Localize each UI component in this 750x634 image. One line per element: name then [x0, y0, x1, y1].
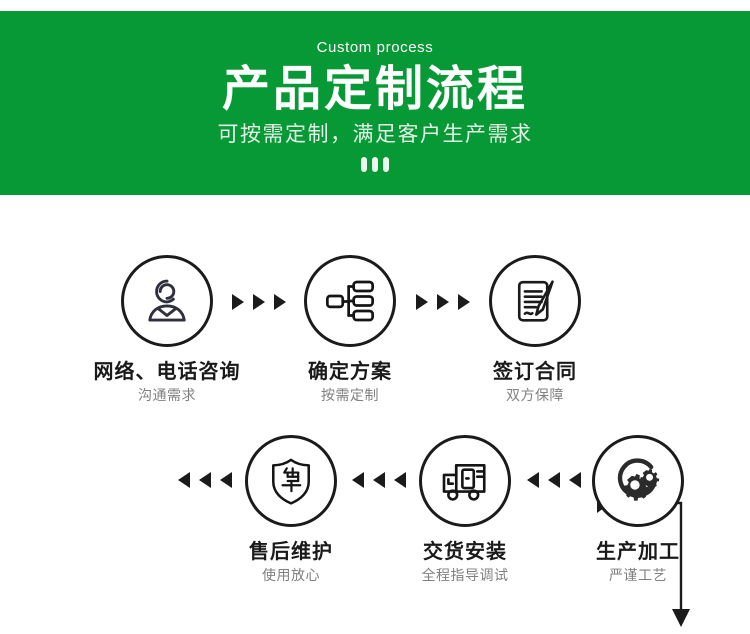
step-subtitle: 双方保障: [450, 389, 620, 404]
step-title: 网络、电话咨询: [82, 360, 252, 382]
step-subtitle: 严谨工艺: [553, 569, 723, 584]
process-flow-diagram: 网络、电话咨询 沟通需求: [0, 195, 750, 634]
step-title: 生产加工: [553, 540, 723, 562]
process-step-consultation[interactable]: 网络、电话咨询 沟通需求: [82, 255, 252, 404]
process-step-after-sales[interactable]: 售后维护 使用放心: [206, 435, 376, 584]
product-customization-process-page: Custom process 产品定制流程 可按需定制，满足客户生产需求: [0, 0, 750, 634]
arrow-down-icon: [672, 609, 690, 627]
process-step-delivery[interactable]: 交货安装 全程指导调试: [380, 435, 550, 584]
decoration-bar-2: [372, 157, 378, 172]
step-icon-circle: [304, 255, 396, 347]
arrow-right-icon: [437, 294, 449, 310]
step-icon-circle: [245, 435, 337, 527]
process-step-contract[interactable]: 签订合同 双方保障: [450, 255, 620, 404]
arrow-left-icon: [352, 472, 364, 488]
step-subtitle: 使用放心: [206, 569, 376, 584]
shield-after-sales-icon: [264, 454, 318, 508]
flowchart-icon: [321, 272, 379, 330]
arrow-right-icon: [232, 294, 244, 310]
step-title: 签订合同: [450, 360, 620, 382]
process-step-plan[interactable]: 确定方案 按需定制: [265, 255, 435, 404]
step-icon-circle: [592, 435, 684, 527]
process-step-production[interactable]: 生产加工 严谨工艺: [553, 435, 723, 584]
arrow-left-icon: [527, 472, 539, 488]
step-title: 确定方案: [265, 360, 435, 382]
step-title: 售后维护: [206, 540, 376, 562]
decoration-bar-3: [383, 157, 389, 172]
page-title: 产品定制流程: [222, 64, 528, 114]
headset-person-icon: [138, 272, 196, 330]
gears-production-icon: [610, 453, 666, 509]
step-icon-circle: [489, 255, 581, 347]
arrow-left-icon: [178, 472, 190, 488]
step-title: 交货安装: [380, 540, 550, 562]
step-subtitle: 沟通需求: [82, 389, 252, 404]
step-subtitle: 全程指导调试: [380, 569, 550, 584]
banner-decoration-bars: [361, 157, 389, 172]
decoration-bar-1: [361, 157, 367, 172]
arrow-right-icon: [416, 294, 428, 310]
banner-subtitle: 可按需定制，满足客户生产需求: [218, 124, 533, 145]
header-banner: Custom process 产品定制流程 可按需定制，满足客户生产需求: [0, 11, 750, 195]
banner-eyebrow-text: Custom process: [317, 40, 434, 55]
arrow-right-icon: [253, 294, 265, 310]
delivery-truck-icon: [437, 453, 493, 509]
step-icon-circle: [419, 435, 511, 527]
contract-pen-icon: [507, 273, 563, 329]
step-subtitle: 按需定制: [265, 389, 435, 404]
step-icon-circle: [121, 255, 213, 347]
